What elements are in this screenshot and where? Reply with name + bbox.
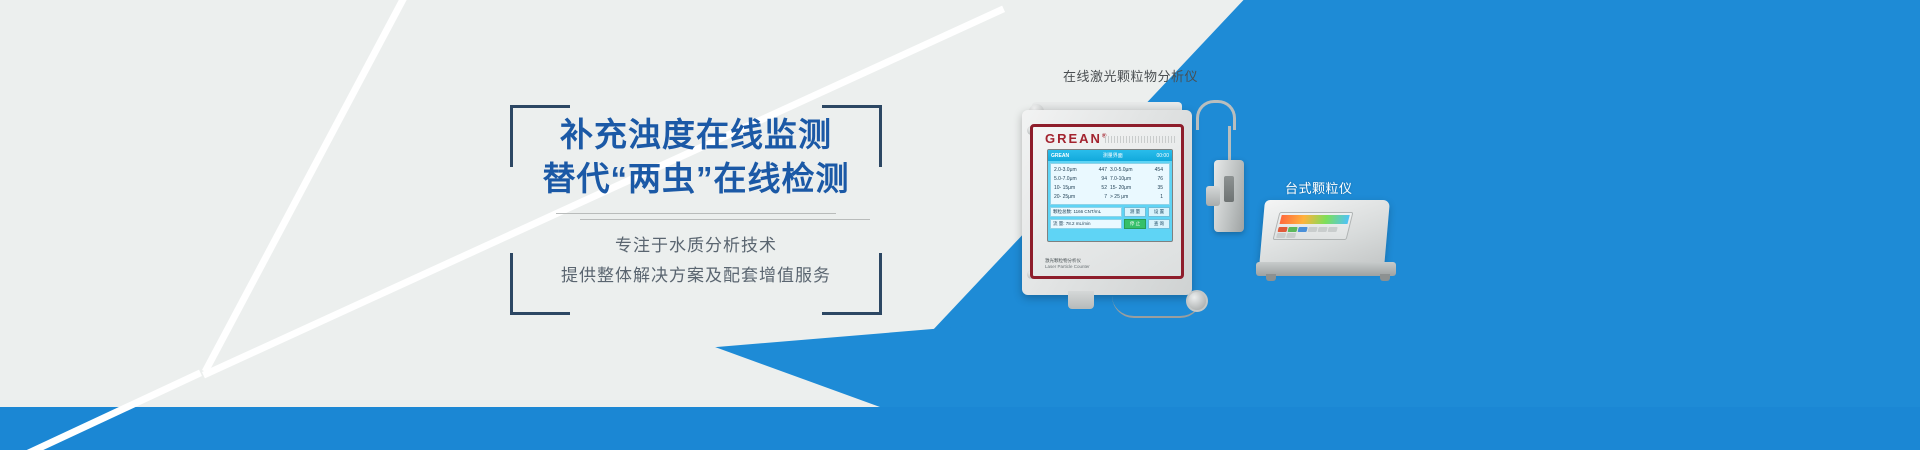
screen-data-table: 2.0-3.0μm 447 3.0-5.0μm 454 5.0-7.0μm 94… bbox=[1050, 163, 1170, 205]
cell-range-2: 3.0-5.0μm bbox=[1110, 166, 1147, 175]
table-row: 20- 25μm 7 > 25 μm 1 bbox=[1054, 193, 1166, 202]
subtitle-line-2: 提供整体解决方案及配套增值服务 bbox=[510, 263, 882, 289]
cell-range-1: 5.0-7.0μm bbox=[1054, 175, 1091, 184]
total-count-field: 颗粒总数: 1166 CNT/mL bbox=[1050, 207, 1122, 217]
brand-logo: GREAN® bbox=[1045, 131, 1108, 146]
benchtop-key-8[interactable] bbox=[1286, 233, 1296, 238]
benchtop-key-4[interactable] bbox=[1308, 227, 1318, 232]
screen-button-settings[interactable]: 设 置 bbox=[1148, 207, 1170, 217]
analyzer-display-screen[interactable]: GREAN 测量界面 00:00 2.0-3.0μm 447 3.0-5.0μm bbox=[1047, 149, 1173, 242]
screen-title-left: GREAN bbox=[1051, 153, 1069, 159]
benchtop-foot-right bbox=[1380, 274, 1390, 281]
sensor-cap bbox=[1206, 186, 1220, 206]
divider-line-upper bbox=[556, 213, 836, 214]
benchtop-base bbox=[1256, 262, 1396, 276]
cell-value-2: 454 bbox=[1147, 166, 1166, 175]
analyzer-model-label-en: Laser Particle Counter bbox=[1045, 264, 1090, 270]
cell-value-2: 76 bbox=[1147, 175, 1166, 184]
cell-value-1: 7 bbox=[1091, 193, 1110, 202]
screen-footer-row-2: 流 量: 78.2 mL/min 停 止 查 询 bbox=[1050, 219, 1170, 229]
divider-line-lower bbox=[580, 219, 870, 220]
benchtop-foot-left bbox=[1266, 274, 1276, 281]
benchtop-key-3[interactable] bbox=[1298, 227, 1308, 232]
screen-button-query[interactable]: 查 询 bbox=[1148, 219, 1170, 229]
benchtop-particle-counter-device bbox=[1262, 200, 1397, 295]
particle-count-table-body: 2.0-3.0μm 447 3.0-5.0μm 454 5.0-7.0μm 94… bbox=[1054, 166, 1166, 202]
table-row: 5.0-7.0μm 94 7.0-10μm 76 bbox=[1054, 175, 1166, 184]
cell-range-1: 20- 25μm bbox=[1054, 193, 1091, 202]
cell-range-2: 7.0-10μm bbox=[1110, 175, 1147, 184]
particle-count-table: 2.0-3.0μm 447 3.0-5.0μm 454 5.0-7.0μm 94… bbox=[1054, 166, 1166, 202]
online-laser-particle-analyzer-device: GREAN® GREAN 测量界面 00:00 2.0-3.0μm bbox=[1022, 110, 1192, 305]
table-row: 10- 15μm 52 15- 20μm 35 bbox=[1054, 184, 1166, 193]
benchtop-key-1[interactable] bbox=[1278, 227, 1288, 232]
label-benchtop-particle-counter: 台式颗粒仪 bbox=[1285, 178, 1353, 197]
screen-title-bar: GREAN 测量界面 00:00 bbox=[1048, 150, 1172, 161]
screen-title-right: 00:00 bbox=[1156, 153, 1169, 159]
benchtop-key-5[interactable] bbox=[1318, 227, 1328, 232]
cell-value-1: 94 bbox=[1091, 175, 1110, 184]
cell-range-1: 2.0-3.0μm bbox=[1054, 166, 1091, 175]
headline-line-1: 补充浊度在线监测 bbox=[510, 113, 882, 157]
cell-range-2: > 25 μm bbox=[1110, 193, 1147, 202]
headline: 补充浊度在线监测 替代“两虫”在线检测 bbox=[510, 113, 882, 201]
promo-banner: 补充浊度在线监测 替代“两虫”在线检测 专注于水质分析技术 提供整体解决方案及配… bbox=[0, 0, 1920, 450]
screen-button-measure[interactable]: 测 量 bbox=[1124, 207, 1146, 217]
benchtop-control-panel bbox=[1273, 212, 1354, 240]
analyzer-bottom-port bbox=[1068, 291, 1094, 309]
cell-value-2: 35 bbox=[1147, 184, 1166, 193]
background-blue-bottom-bar bbox=[0, 407, 1920, 450]
cell-range-1: 10- 15μm bbox=[1054, 184, 1091, 193]
benchtop-key-2[interactable] bbox=[1288, 227, 1298, 232]
brand-name: GREAN bbox=[1045, 131, 1102, 146]
headline-line-2: 替代“两虫”在线检测 bbox=[510, 157, 882, 201]
cell-range-2: 15- 20μm bbox=[1110, 184, 1147, 193]
sensor-window bbox=[1224, 176, 1234, 202]
screen-footer-row-1: 颗粒总数: 1166 CNT/mL 测 量 设 置 bbox=[1050, 207, 1170, 217]
analyzer-model-label: 激光颗粒物分析仪 Laser Particle Counter bbox=[1045, 258, 1090, 270]
flow-rate-field: 流 量: 78.2 mL/min bbox=[1050, 219, 1122, 229]
screen-footer: 颗粒总数: 1166 CNT/mL 测 量 设 置 流 量: 78.2 mL/m… bbox=[1050, 207, 1170, 229]
table-row: 2.0-3.0μm 447 3.0-5.0μm 454 bbox=[1054, 166, 1166, 175]
drain-valve bbox=[1186, 290, 1208, 312]
cell-value-2: 1 bbox=[1147, 193, 1166, 202]
vent-grille-icon bbox=[1105, 136, 1177, 143]
screen-button-stop[interactable]: 停 止 bbox=[1124, 219, 1146, 229]
label-online-laser-particle-analyzer: 在线激光颗粒物分析仪 bbox=[1063, 66, 1198, 85]
benchtop-display-screen bbox=[1279, 215, 1349, 224]
benchtop-key-7[interactable] bbox=[1276, 233, 1286, 238]
cell-value-1: 447 bbox=[1091, 166, 1110, 175]
screen-title-center: 测量界面 bbox=[1103, 152, 1123, 159]
headline-block: 补充浊度在线监测 替代“两虫”在线检测 专注于水质分析技术 提供整体解决方案及配… bbox=[510, 105, 882, 315]
subtitle-line-1: 专注于水质分析技术 bbox=[510, 233, 882, 259]
cell-value-1: 52 bbox=[1091, 184, 1110, 193]
analyzer-enclosure: GREAN® GREAN 测量界面 00:00 2.0-3.0μm bbox=[1022, 110, 1192, 295]
analyzer-front-panel: GREAN® GREAN 测量界面 00:00 2.0-3.0μm bbox=[1030, 124, 1184, 279]
benchtop-key-6[interactable] bbox=[1328, 227, 1338, 232]
